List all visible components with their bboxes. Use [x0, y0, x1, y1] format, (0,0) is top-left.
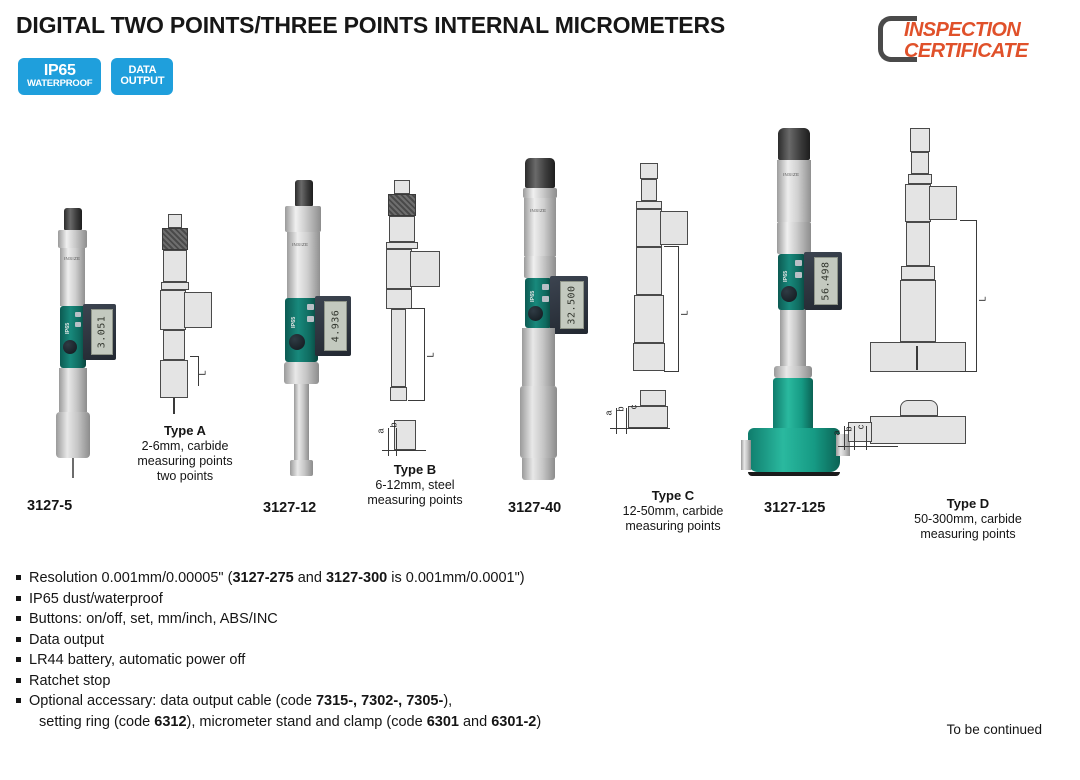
type-a-desc-2: measuring points: [115, 454, 255, 469]
lcd-reading: 3.051: [97, 316, 108, 349]
spec-item-buttons: Buttons: on/off, set, mm/inch, ABS/INC: [16, 609, 696, 630]
bullet-square-icon: [16, 691, 29, 703]
ratchet-cap: [778, 128, 810, 160]
dw-detail-base: [628, 406, 668, 428]
measuring-head-flange: [748, 428, 840, 472]
knurled-thimble: [524, 256, 556, 278]
dw-collar: [901, 266, 935, 280]
dw-detail-baseline: [838, 446, 898, 447]
dw-ratchet: [394, 180, 410, 194]
button-set: [542, 284, 549, 290]
type-d-desc-1: 50-300mm, carbide: [883, 512, 1053, 527]
upper-shaft: [522, 328, 555, 386]
product-3127-125: INSIZE IP65 56.498: [748, 128, 1078, 548]
lcd-reading: 32.500: [567, 285, 578, 324]
lcd-reading: 56.498: [821, 261, 832, 300]
dw-dim-line-l: [678, 246, 679, 372]
dw-display: [660, 211, 688, 245]
graduated-sleeve: [777, 160, 811, 222]
dw-label-length: L: [426, 352, 436, 357]
type-b-desc-2: measuring points: [350, 493, 480, 508]
dw-ratchet: [640, 163, 658, 179]
dw-detail-ext-a: [616, 408, 617, 434]
dw-collar: [161, 282, 189, 290]
badge-ip65-line2: WATERPROOF: [27, 79, 92, 89]
button-set: [75, 312, 81, 317]
dw-label-b: b: [844, 426, 854, 431]
type-a-name: Type A: [115, 423, 255, 439]
page-title: DIGITAL TWO POINTS/THREE POINTS INTERNAL…: [16, 12, 725, 39]
ratchet-thumbwheel: [63, 340, 77, 354]
dw-label-length: L: [198, 370, 208, 375]
dw-dim-tick-bottom: [960, 371, 977, 372]
ip65-body-label: IP65: [783, 271, 789, 282]
shoulder: [284, 362, 319, 384]
dw-label-length: L: [978, 296, 988, 301]
type-d-name: Type D: [883, 496, 1053, 512]
product-3127-5: INSIZE IP65 3.051: [20, 208, 260, 538]
dw-detail-top: [640, 390, 666, 406]
dw-dim-tick-top: [664, 246, 679, 247]
dw-dim-tick-bottom: [664, 371, 679, 372]
dw-label-a: a: [376, 428, 386, 433]
dw-head: [390, 387, 407, 401]
spec-item-text: Buttons: on/off, set, mm/inch, ABS/INC: [29, 609, 696, 630]
dw-label-c: c: [628, 405, 638, 410]
bullet-square-icon: [16, 630, 29, 642]
button-mode: [307, 316, 314, 322]
brand-mark: INSIZE: [64, 256, 80, 261]
bullet-square-icon: [16, 671, 29, 683]
model-number-3127-125: 3127-125: [764, 500, 825, 516]
spec-item-text: Ratchet stop: [29, 671, 696, 692]
dw-body: [636, 209, 662, 247]
lcd-screen: 3.051: [91, 309, 113, 355]
button-set: [795, 260, 802, 266]
spec-item-text: IP65 dust/waterproof: [29, 589, 696, 610]
dw-shaft: [163, 330, 185, 360]
dw-label-a: a: [604, 410, 614, 415]
type-c-name: Type C: [598, 488, 748, 504]
model-number-3127-5: 3127-5: [27, 498, 72, 514]
type-a-desc-1: 2-6mm, carbide: [115, 439, 255, 454]
lcd-screen: 4.936: [324, 301, 347, 351]
measuring-head: [56, 412, 90, 458]
dw-label-a: a: [832, 430, 842, 435]
measuring-head-shaft: [294, 384, 309, 460]
dw-ratchet: [168, 214, 182, 228]
lcd-housing: 4.936: [315, 296, 351, 356]
knurled-thimble: [777, 222, 811, 254]
dw-dim-tick-top: [408, 308, 425, 309]
type-caption-a: Type A 2-6mm, carbide measuring points t…: [115, 423, 255, 485]
dw-ratchet: [910, 128, 930, 152]
knurled-thimble: [58, 230, 87, 248]
measuring-head: [290, 460, 313, 476]
ratchet-cap: [525, 158, 555, 188]
ratchet-thumbwheel: [289, 334, 305, 350]
product-3127-12: INSIZE IP65 4.936: [258, 180, 508, 540]
dw-detail-ext-b: [854, 426, 855, 450]
button-mode: [75, 322, 81, 327]
extension-shaft: [780, 310, 806, 366]
dw-detail-ext-c: [866, 426, 867, 450]
dw-extension: [906, 222, 930, 266]
ip65-body-label: IP65: [65, 323, 71, 334]
dw-collar: [386, 242, 418, 249]
dw-display: [929, 186, 957, 220]
spec-item-resolution: Resolution 0.001mm/0.00005" (3127-275 an…: [16, 568, 696, 589]
type-b-desc-1: 6-12mm, steel: [350, 478, 480, 493]
flange-base-edge: [748, 472, 840, 476]
spec-continuation-line: setting ring (code 6312), micrometer sta…: [29, 712, 696, 733]
specifications-list: Resolution 0.001mm/0.00005" (3127-275 an…: [16, 568, 696, 733]
dw-detail-ext-b: [626, 408, 627, 434]
ratchet-cap: [295, 180, 313, 206]
lcd-screen: 56.498: [814, 257, 838, 305]
page-header: DIGITAL TWO POINTS/THREE POINTS INTERNAL…: [0, 0, 1080, 115]
footer-note: To be continued: [947, 722, 1042, 737]
certificate-text: INSPECTION CERTIFICATE: [904, 20, 1028, 61]
dw-label-b: b: [616, 406, 626, 411]
model-number-3127-40: 3127-40: [508, 500, 561, 516]
dw-label-c: c: [855, 425, 865, 430]
measuring-tip: [72, 458, 74, 478]
measuring-head-shaft: [59, 368, 87, 412]
bullet-square-icon: [16, 609, 29, 621]
spec-item-text: Optional accessary: data output cable (c…: [29, 691, 696, 732]
dw-dim-tick-top: [960, 220, 977, 221]
lcd-housing: 3.051: [83, 304, 116, 360]
bullet-square-icon: [16, 568, 29, 580]
dw-dim-tick-bottom: [408, 400, 425, 401]
type-caption-d: Type D 50-300mm, carbide measuring point…: [883, 496, 1053, 542]
type-a-desc-3: two points: [115, 469, 255, 484]
collar: [774, 366, 812, 378]
dw-detail-base: [870, 416, 966, 444]
badge-data-output: DATA OUTPUT: [111, 58, 173, 95]
dw-tip: [173, 398, 175, 414]
spec-item-ratchet: Ratchet stop: [16, 671, 696, 692]
dw-flange-slot: [916, 346, 918, 370]
dw-body: [905, 184, 931, 222]
certificate-line1: INSPECTION: [904, 20, 1028, 41]
dw-dim-tick-top: [190, 356, 199, 357]
dw-display: [410, 251, 440, 287]
dw-sleeve: [911, 152, 929, 174]
spec-item-text: Data output: [29, 630, 696, 651]
dw-sleeve: [389, 216, 415, 242]
dw-head: [160, 360, 188, 398]
dw-shaft: [391, 309, 406, 387]
badge-ip65-line1: IP65: [44, 63, 76, 79]
bullet-square-icon: [16, 650, 29, 662]
button-mode: [542, 296, 549, 302]
brand-mark: INSIZE: [292, 242, 308, 247]
spec-item-battery: LR44 battery, automatic power off: [16, 650, 696, 671]
graduated-sleeve: [524, 198, 556, 256]
dw-thimble: [388, 194, 416, 216]
type-caption-c: Type C 12-50mm, carbide measuring points: [598, 488, 748, 534]
spec-item-data-output: Data output: [16, 630, 696, 651]
lcd-reading: 4.936: [330, 310, 341, 343]
dw-mid-shaft: [634, 295, 664, 343]
dw-label-length: L: [680, 310, 690, 315]
badge-ip65-waterproof: IP65 WATERPROOF: [18, 58, 101, 95]
feature-badges: IP65 WATERPROOF DATA OUTPUT: [18, 58, 173, 95]
dw-thimble: [162, 228, 188, 250]
spec-item-ip65: IP65 dust/waterproof: [16, 589, 696, 610]
spec-item-text: Resolution 0.001mm/0.00005" (3127-275 an…: [29, 568, 696, 589]
dw-upper-shaft: [636, 247, 662, 295]
lcd-housing: 32.500: [550, 276, 588, 334]
dw-body: [160, 290, 186, 330]
type-c-desc-1: 12-50mm, carbide: [598, 504, 748, 519]
bullet-square-icon: [16, 589, 29, 601]
dw-detail-ext-a: [388, 428, 389, 456]
measuring-head: [522, 458, 555, 480]
ratchet-thumbwheel: [781, 286, 797, 302]
brand-mark: INSIZE: [530, 208, 546, 213]
ip65-body-label: IP65: [291, 317, 297, 328]
spec-item-accessory: Optional accessary: data output cable (c…: [16, 691, 696, 732]
model-number-3127-12: 3127-12: [263, 500, 316, 516]
inspection-certificate-logo: INSPECTION CERTIFICATE: [876, 14, 1072, 66]
knurled-ring: [523, 188, 557, 198]
lcd-housing: 56.498: [804, 252, 842, 310]
dw-body: [386, 249, 412, 289]
dw-knurl: [908, 174, 932, 184]
dw-label-b: b: [389, 422, 399, 427]
type-caption-b: Type B 6-12mm, steel measuring points: [350, 462, 480, 508]
certificate-line2: CERTIFICATE: [904, 41, 1028, 62]
knurled-thimble: [285, 206, 321, 232]
dw-sleeve: [641, 179, 657, 201]
button-set: [307, 304, 314, 310]
dw-detail-ext-b: [396, 428, 397, 456]
measuring-point-left: [741, 440, 751, 470]
dw-head-body: [900, 280, 936, 342]
dw-head: [633, 343, 665, 371]
ratchet-cap: [64, 208, 82, 230]
button-mode: [795, 272, 802, 278]
type-d-desc-2: measuring points: [883, 527, 1053, 542]
type-c-desc-2: measuring points: [598, 519, 748, 534]
product-gallery: INSIZE IP65 3.051: [0, 118, 1080, 548]
dw-detail-baseline: [610, 428, 670, 429]
lcd-screen: 32.500: [560, 281, 584, 329]
badge-data-line2: OUTPUT: [120, 76, 164, 87]
dw-display: [184, 292, 212, 328]
dw-shoulder: [386, 289, 412, 309]
spec-item-text: LR44 battery, automatic power off: [29, 650, 696, 671]
ratchet-thumbwheel: [528, 306, 543, 321]
brand-mark: INSIZE: [783, 172, 799, 177]
dw-sleeve: [163, 250, 187, 282]
dw-detail-top: [900, 400, 938, 416]
dw-flange: [870, 342, 966, 372]
measuring-head-shaft: [520, 386, 557, 458]
type-b-name: Type B: [350, 462, 480, 478]
ip65-body-label: IP65: [530, 291, 536, 302]
dw-collar: [636, 201, 662, 209]
product-3127-40: INSIZE IP65 32.500: [500, 158, 755, 538]
